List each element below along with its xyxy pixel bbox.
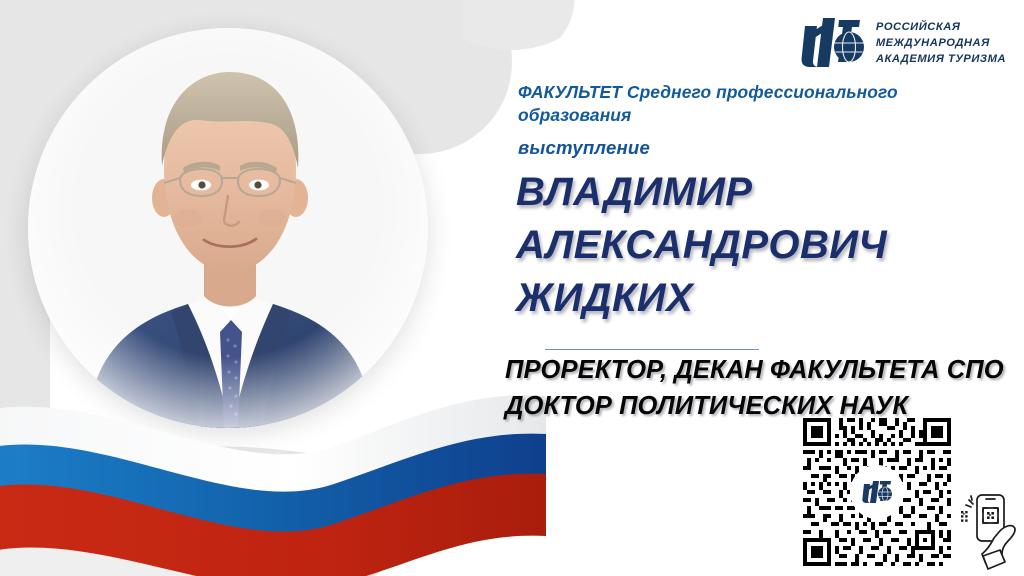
decor-swoosh-bottom bbox=[0, 446, 404, 576]
avatar bbox=[28, 28, 428, 428]
ribbon-fold-shadow bbox=[214, 448, 546, 536]
presentation-slide: РОССИЙСКАЯ МЕЖДУНАРОДНАЯ АКАДЕМИЯ ТУРИЗМ… bbox=[0, 0, 1024, 576]
decor-swoosh-bottom-2 bbox=[0, 485, 352, 576]
qr-center-logo bbox=[850, 465, 904, 519]
academy-logo: РОССИЙСКАЯ МЕЖДУНАРОДНАЯ АКАДЕМИЯ ТУРИЗМ… bbox=[798, 14, 1006, 72]
divider-rule bbox=[545, 349, 759, 350]
portrait-illustration bbox=[28, 28, 428, 428]
ribbon-band-blue bbox=[0, 434, 546, 552]
event-label: выступление bbox=[518, 137, 650, 159]
brand-line-3: АКАДЕМИЯ ТУРИЗМА bbox=[876, 52, 1006, 66]
speaker-position-line-1: ПРОРЕКТОР, ДЕКАН ФАКУЛЬТЕТА СПО bbox=[505, 352, 1005, 388]
academy-logo-text: РОССИЙСКАЯ МЕЖДУНАРОДНАЯ АКАДЕМИЯ ТУРИЗМ… bbox=[876, 20, 1006, 67]
brand-line-1: РОССИЙСКАЯ bbox=[876, 20, 1006, 34]
speaker-name-line-2: АЛЕКСАНДРОВИЧ bbox=[516, 219, 986, 272]
speaker-position: ПРОРЕКТОР, ДЕКАН ФАКУЛЬТЕТА СПО ДОКТОР П… bbox=[505, 352, 1005, 424]
hand-holding-phone-scan-icon bbox=[958, 492, 1024, 574]
rmat-logo-icon bbox=[861, 479, 893, 505]
speaker-name: ВЛАДИМИР АЛЕКСАНДРОВИЧ ЖИДКИХ bbox=[516, 166, 986, 324]
speaker-photo bbox=[28, 28, 428, 446]
speaker-name-line-1: ВЛАДИМИР bbox=[516, 166, 986, 219]
ribbon-band-red bbox=[0, 474, 546, 576]
speaker-name-line-3: ЖИДКИХ bbox=[516, 272, 986, 325]
decor-blob-top bbox=[462, 0, 574, 50]
brand-line-2: МЕЖДУНАРОДНАЯ bbox=[876, 36, 1006, 50]
faculty-label: ФАКУЛЬТЕТ Среднего профессионального обр… bbox=[518, 81, 970, 127]
rmat-globe-logo-icon bbox=[798, 14, 866, 72]
qr-section bbox=[803, 418, 1024, 576]
